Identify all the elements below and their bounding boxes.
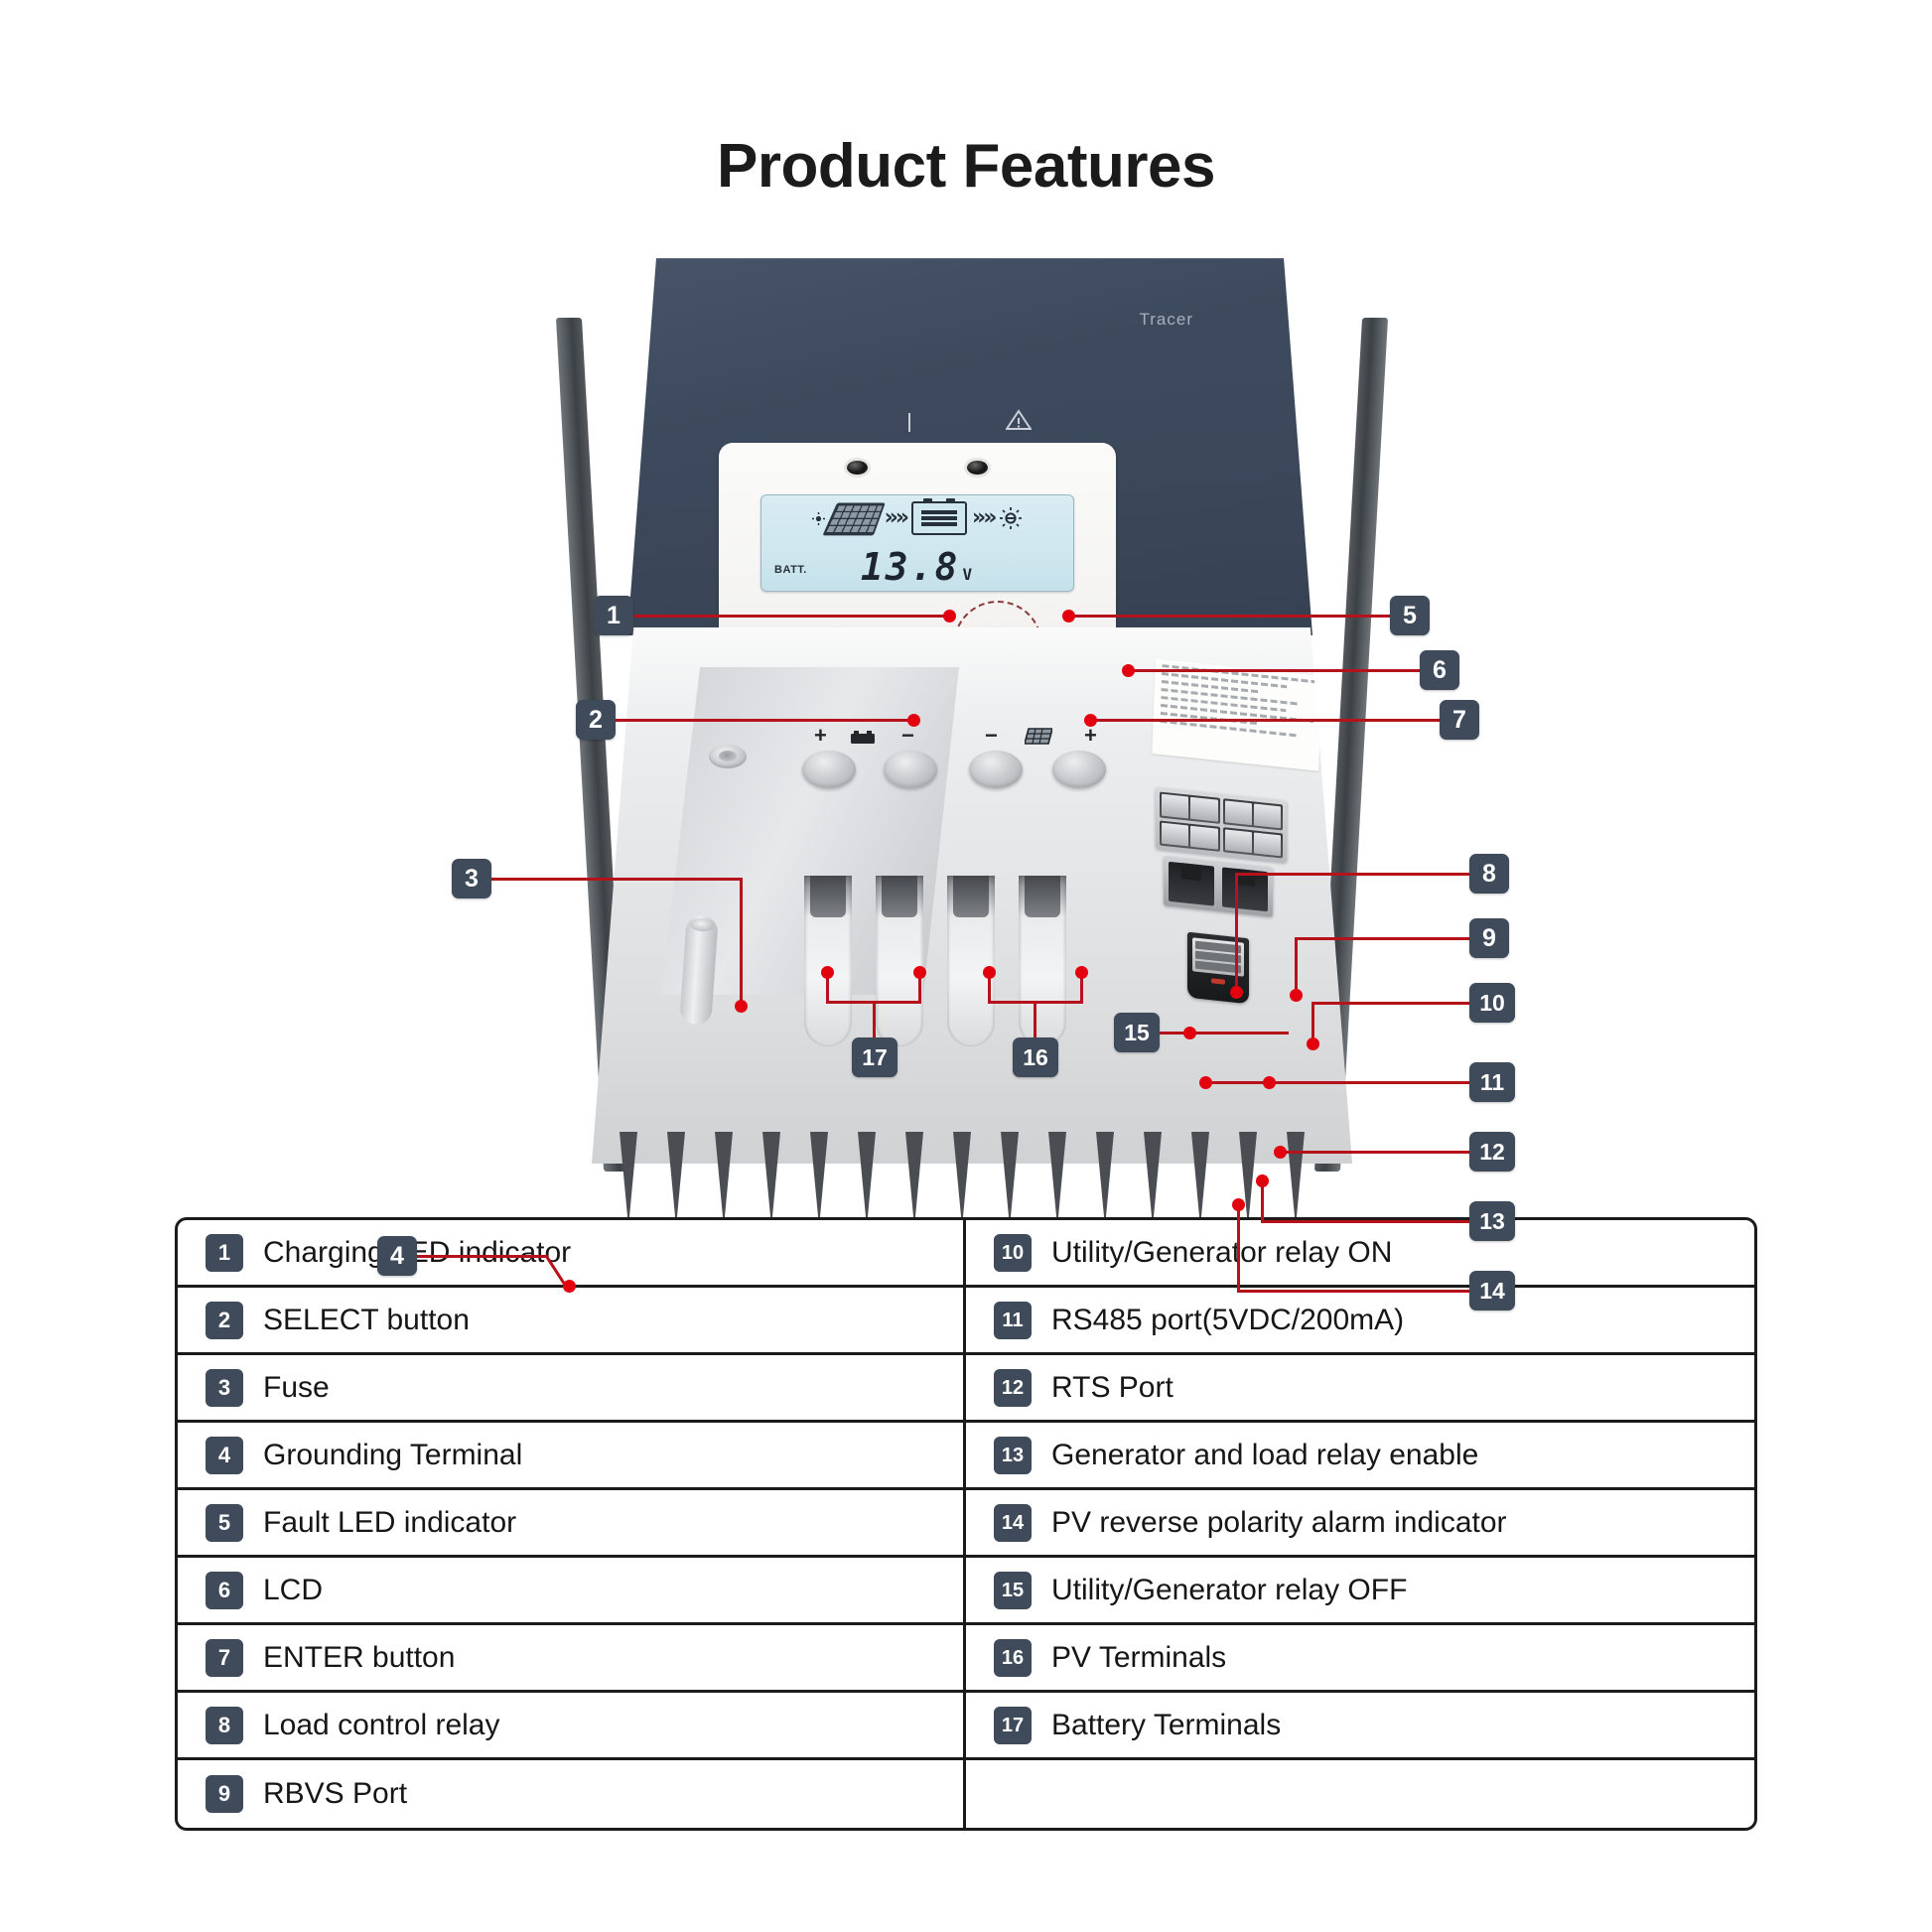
- callout-dot-2: [907, 714, 920, 727]
- legend-row: 8 Load control relay: [178, 1693, 963, 1760]
- utility-generator-relay-off-terminal: [1160, 820, 1220, 852]
- legend-row: 14 PV reverse polarity alarm indicator: [966, 1490, 1754, 1558]
- legend-label: Utility/Generator relay ON: [1051, 1236, 1392, 1270]
- legend-row: 4 Grounding Terminal: [178, 1423, 963, 1490]
- terminal-symbol-row: + − −: [798, 725, 1126, 747]
- battery-icon: [911, 501, 967, 535]
- legend-row: 6 LCD: [178, 1558, 963, 1625]
- battery-negative-symbol: −: [901, 725, 914, 747]
- lcd-voltage-number: 13.8: [861, 545, 960, 589]
- legend-number: 17: [994, 1707, 1032, 1744]
- callout-leader-3: [491, 878, 743, 881]
- legend-label: Charging LED indicator: [263, 1236, 571, 1270]
- legend-row: 5 Fault LED indicator: [178, 1490, 963, 1558]
- flow-arrow-load: »»: [972, 507, 994, 529]
- callout-leader-12: [1279, 1151, 1473, 1154]
- callout-dot-16b: [1075, 966, 1088, 979]
- callout-dot-11b: [1199, 1076, 1212, 1089]
- legend-row: 16 PV Terminals: [966, 1625, 1754, 1693]
- callout-leader-4: [417, 1255, 546, 1258]
- callout-badge-1: 1: [594, 596, 633, 635]
- relay-terminal-block: [1156, 787, 1287, 863]
- solar-panel-icon: [908, 414, 910, 432]
- callout-badge-4: 4: [377, 1236, 417, 1276]
- legend-row: 12 RTS Port: [966, 1355, 1754, 1423]
- callout-dot-14: [1232, 1198, 1245, 1211]
- callout-leader-11: [1201, 1081, 1473, 1084]
- legend-label: SELECT button: [263, 1304, 470, 1337]
- rs485-port-block: [1164, 856, 1273, 917]
- callout-leader-7: [1092, 719, 1442, 722]
- legend-row: 2 SELECT button: [178, 1288, 963, 1355]
- legend-number: 10: [994, 1234, 1032, 1272]
- legend-table: 1 Charging LED indicator 2 SELECT button…: [175, 1217, 1757, 1831]
- led-icon-row: [627, 409, 1312, 436]
- legend-number: 13: [994, 1437, 1032, 1474]
- legend-label: RS485 port(5VDC/200mA): [1051, 1304, 1404, 1337]
- callout-badge-2: 2: [576, 700, 616, 740]
- callout-badge-9: 9: [1469, 918, 1509, 958]
- rs485-port: [1169, 862, 1214, 906]
- callout-dot-12: [1274, 1146, 1287, 1159]
- legend-number: 7: [206, 1639, 243, 1677]
- legend-number: 1: [206, 1234, 243, 1272]
- pv-reverse-polarity-alarm-indicator: [1211, 978, 1225, 984]
- legend-number: 11: [994, 1302, 1032, 1339]
- lcd-status-row: »» »»: [760, 501, 1074, 535]
- legend-label: LCD: [263, 1574, 323, 1607]
- callout-badge-16: 16: [1013, 1037, 1058, 1077]
- legend-number: 4: [206, 1437, 243, 1474]
- lcd-display: »» »»: [760, 494, 1074, 592]
- lcd-voltage-reading: 13.8V: [760, 548, 1074, 586]
- pv-terminal-negative: [969, 751, 1023, 788]
- charging-led-indicator: [847, 461, 868, 475]
- callout-dot-9: [1290, 989, 1303, 1002]
- callout-leader-9: [1295, 937, 1473, 940]
- callout-dot-11a: [1263, 1076, 1276, 1089]
- callout-dot-16a: [983, 966, 996, 979]
- callout-badge-8: 8: [1469, 854, 1509, 894]
- legend-number: 3: [206, 1369, 243, 1407]
- callout-badge-6: 6: [1420, 650, 1459, 690]
- legend-label: Generator and load relay enable: [1051, 1439, 1478, 1472]
- callout-leader-14-vert: [1237, 1204, 1240, 1293]
- pv-positive-symbol: +: [1084, 725, 1097, 747]
- legend-number: 2: [206, 1302, 243, 1339]
- legend-label: Battery Terminals: [1051, 1709, 1281, 1742]
- legend-row: 10 Utility/Generator relay ON: [966, 1220, 1754, 1288]
- sun-icon: [812, 512, 825, 525]
- battery-terminal-positive: [802, 751, 856, 788]
- terminal-strip: + − −: [798, 725, 1126, 804]
- cable-channel: [947, 876, 995, 1046]
- callout-badge-14: 14: [1469, 1271, 1515, 1311]
- rbvs-port-terminal: [1223, 798, 1284, 830]
- callout-dot-1: [943, 610, 956, 622]
- legend-number: 14: [994, 1504, 1032, 1542]
- cable-channel: [1019, 876, 1066, 1046]
- callout-badge-17: 17: [852, 1037, 897, 1077]
- legend-label: PV Terminals: [1051, 1641, 1226, 1675]
- callout-dot-3: [735, 1000, 748, 1013]
- callout-leader-16-bracket: [988, 1001, 1083, 1004]
- callout-badge-10: 10: [1469, 983, 1515, 1023]
- legend-label: Fuse: [263, 1371, 330, 1405]
- legend-label: RTS Port: [1051, 1371, 1173, 1405]
- callout-leader-5: [1070, 615, 1392, 618]
- cable-channel: [876, 876, 923, 1046]
- battery-terminal-negative: [884, 751, 937, 788]
- callout-dot-10: [1307, 1037, 1319, 1050]
- callout-leader-17-bracket: [826, 1001, 921, 1004]
- pv-terminal-positive: [1052, 751, 1106, 788]
- callout-badge-5: 5: [1390, 596, 1430, 635]
- legend-column-right: 10 Utility/Generator relay ON 11 RS485 p…: [966, 1220, 1754, 1828]
- fuse: [679, 914, 719, 1026]
- callout-badge-11: 11: [1469, 1062, 1515, 1102]
- legend-number: 9: [206, 1775, 243, 1813]
- callout-badge-13: 13: [1469, 1201, 1515, 1241]
- callout-leader-16-stem: [1034, 1001, 1036, 1040]
- legend-number: 12: [994, 1369, 1032, 1407]
- callout-dot-6: [1122, 664, 1135, 677]
- legend-number: 16: [994, 1639, 1032, 1677]
- callout-dot-8: [1230, 986, 1243, 999]
- callout-leader-8-vert: [1235, 873, 1238, 992]
- legend-row: 1 Charging LED indicator: [178, 1220, 963, 1288]
- legend-row: 9 RBVS Port: [178, 1760, 963, 1828]
- spec-label-sticker: [1152, 658, 1321, 770]
- callout-dot-17a: [821, 966, 834, 979]
- legend-row: 17 Battery Terminals: [966, 1693, 1754, 1760]
- callout-badge-7: 7: [1440, 700, 1479, 740]
- legend-number: 5: [206, 1504, 243, 1542]
- legend-number: 15: [994, 1572, 1032, 1609]
- callout-leader-17-stem: [873, 1001, 876, 1040]
- brand-label: Tracer: [1140, 310, 1194, 330]
- legend-number: 6: [206, 1572, 243, 1609]
- legend-column-left: 1 Charging LED indicator 2 SELECT button…: [178, 1220, 966, 1828]
- solar-panel-icon: [822, 502, 885, 535]
- callout-badge-3: 3: [452, 859, 491, 898]
- screw-boss: [709, 745, 747, 768]
- callout-leader-13-vert: [1261, 1181, 1264, 1223]
- callout-badge-15: 15: [1114, 1013, 1160, 1052]
- callout-dot-5: [1062, 610, 1075, 622]
- legend-label: PV reverse polarity alarm indicator: [1051, 1506, 1507, 1540]
- fault-led-indicator: [967, 461, 988, 475]
- callout-leader-2: [616, 719, 913, 722]
- callout-leader-13: [1261, 1220, 1473, 1223]
- legend-row-empty: [966, 1760, 1754, 1828]
- flow-arrow-pv: »»: [885, 507, 906, 529]
- led-indicator-row: [719, 461, 1116, 480]
- legend-row: 3 Fuse: [178, 1355, 963, 1423]
- callout-leader-3-vert: [740, 878, 743, 1007]
- callout-leader-6: [1130, 669, 1422, 672]
- load-control-relay-terminal: [1160, 791, 1220, 823]
- legend-row: 7 ENTER button: [178, 1625, 963, 1693]
- battery-positive-symbol: +: [814, 725, 827, 747]
- legend-label: ENTER button: [263, 1641, 455, 1675]
- legend-label: RBVS Port: [263, 1777, 407, 1811]
- callout-dot-13: [1256, 1174, 1269, 1187]
- pv-negative-symbol: −: [985, 725, 998, 747]
- load-lamp-icon: [999, 506, 1023, 530]
- callout-dot-15: [1183, 1027, 1196, 1039]
- cable-channel: [804, 876, 852, 1046]
- callout-dot-7: [1084, 714, 1097, 727]
- callout-leader-10: [1311, 1002, 1473, 1005]
- callout-leader-8: [1235, 873, 1473, 876]
- utility-generator-relay-on-terminal: [1223, 827, 1284, 859]
- callout-leader-14: [1237, 1290, 1473, 1293]
- lcd-voltage-unit: V: [962, 565, 974, 584]
- battery-icon: [850, 727, 876, 749]
- legend-label: Utility/Generator relay OFF: [1051, 1574, 1407, 1607]
- legend-label: Grounding Terminal: [263, 1439, 522, 1472]
- warning-triangle-icon: [1006, 409, 1032, 436]
- page-title: Product Features: [0, 131, 1932, 202]
- callout-badge-12: 12: [1469, 1132, 1515, 1172]
- legend-row: 13 Generator and load relay enable: [966, 1423, 1754, 1490]
- callout-dot-17b: [913, 966, 926, 979]
- legend-number: 8: [206, 1707, 243, 1744]
- legend-label: Fault LED indicator: [263, 1506, 516, 1540]
- legend-row: 11 RS485 port(5VDC/200mA): [966, 1288, 1754, 1355]
- legend-label: Load control relay: [263, 1709, 499, 1742]
- callout-leader-9-vert: [1295, 937, 1298, 995]
- solar-panel-icon: [1025, 727, 1052, 749]
- product-illustration: Tracer: [0, 213, 1932, 1167]
- legend-row: 15 Utility/Generator relay OFF: [966, 1558, 1754, 1625]
- callout-leader-15: [1160, 1032, 1289, 1035]
- callout-dot-4: [563, 1280, 576, 1293]
- callout-leader-1: [633, 615, 949, 618]
